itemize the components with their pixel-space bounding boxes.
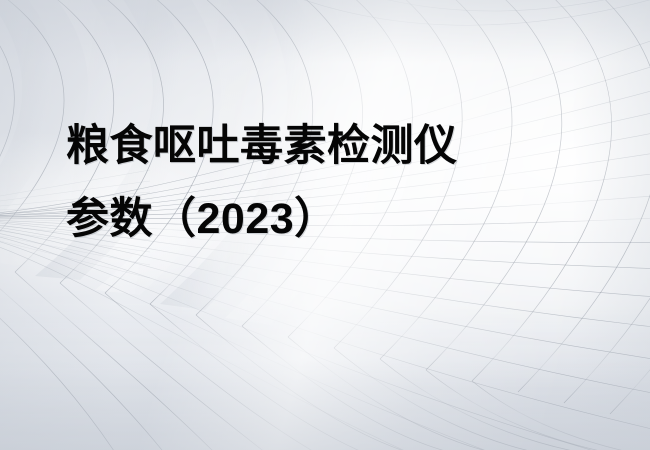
title-line-2: 参数（2023） (66, 183, 586, 256)
mesh-arcs-top (268, 0, 650, 25)
title-banner: 粮食呕吐毒素检测仪 参数（2023） (0, 0, 650, 450)
page-title: 粮食呕吐毒素检测仪 参数（2023） (66, 110, 586, 256)
mesh-lines-vertical-lower (0, 252, 650, 450)
title-line-1: 粮食呕吐毒素检测仪 (66, 110, 586, 183)
